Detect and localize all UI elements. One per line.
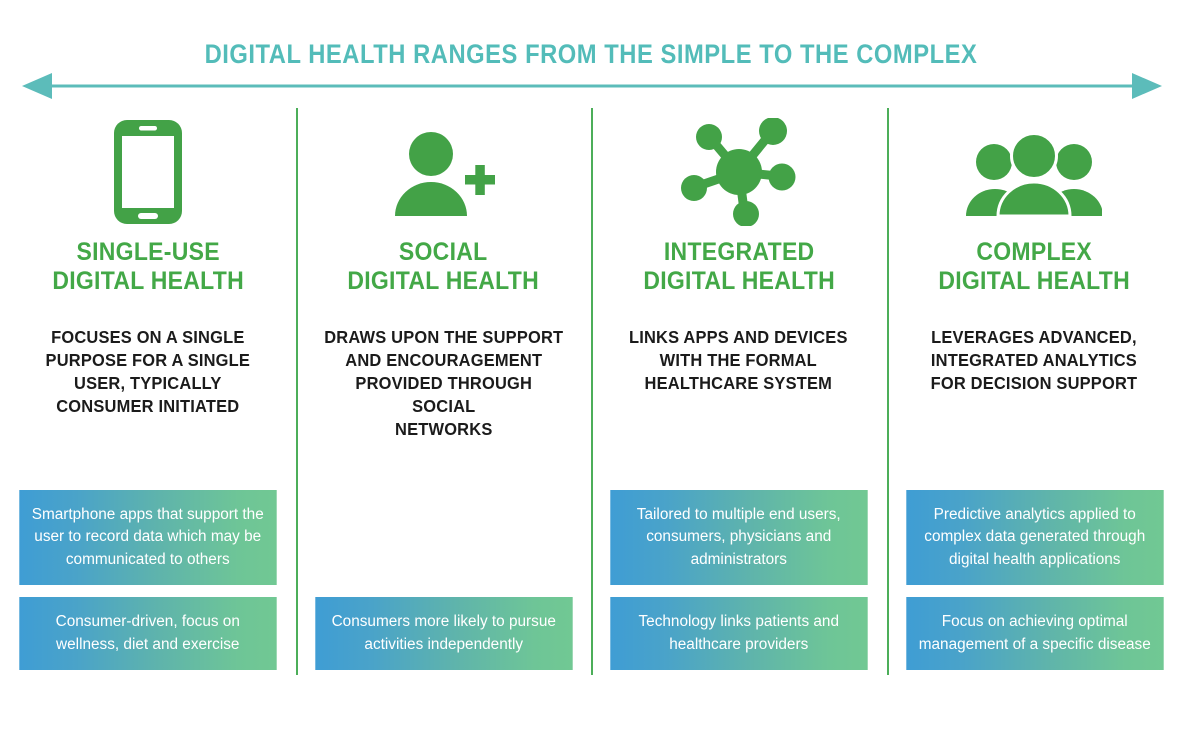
page-title: DIGITAL HEALTH RANGES FROM THE SIMPLE TO… <box>71 39 1111 70</box>
infographic-root: DIGITAL HEALTH RANGES FROM THE SIMPLE TO… <box>0 0 1182 746</box>
card-item: Predictive analytics applied to complex … <box>906 490 1163 585</box>
column-heading: INTEGRATED DIGITAL HEALTH <box>643 238 835 296</box>
column-description: DRAWS UPON THE SUPPORT AND ENCOURAGEMENT… <box>321 326 565 441</box>
column-single-use: SINGLE-USE DIGITAL HEALTH FOCUSES ON A S… <box>0 108 296 678</box>
column-description: LINKS APPS AND DEVICES WITH THE FORMAL H… <box>629 326 848 395</box>
columns-container: SINGLE-USE DIGITAL HEALTH FOCUSES ON A S… <box>0 108 1182 678</box>
column-heading: COMPLEX DIGITAL HEALTH <box>938 238 1130 296</box>
cards-list: Smartphone apps that support the user to… <box>18 490 278 678</box>
column-integrated: INTEGRATED DIGITAL HEALTH LINKS APPS AND… <box>591 108 887 678</box>
card-item: Smartphone apps that support the user to… <box>19 490 276 585</box>
card-item: Tailored to multiple end users, consumer… <box>610 490 867 585</box>
card-item: Technology links patients and healthcare… <box>610 597 867 670</box>
column-heading: SINGLE-USE DIGITAL HEALTH <box>52 238 244 296</box>
people-group-icon <box>966 108 1102 236</box>
card-item: Consumer-driven, focus on wellness, diet… <box>19 597 276 670</box>
double-headed-arrow-icon <box>22 70 1162 102</box>
smartphone-icon <box>112 108 184 236</box>
network-hub-icon <box>680 108 798 236</box>
add-person-icon <box>389 108 497 236</box>
column-social: SOCIAL DIGITAL HEALTH DRAWS UPON THE SUP… <box>296 108 592 678</box>
cards-list: Consumers more likely to pursue activiti… <box>314 597 574 678</box>
column-description: FOCUSES ON A SINGLE PURPOSE FOR A SINGLE… <box>45 326 250 418</box>
cards-list: Tailored to multiple end users, consumer… <box>609 490 869 678</box>
column-description: LEVERAGES ADVANCED, INTEGRATED ANALYTICS… <box>931 326 1138 395</box>
card-item: Focus on achieving optimal management of… <box>906 597 1163 670</box>
card-item: Consumers more likely to pursue activiti… <box>315 597 572 670</box>
column-heading: SOCIAL DIGITAL HEALTH <box>347 238 539 296</box>
cards-list: Predictive analytics applied to complex … <box>905 490 1165 678</box>
column-complex: COMPLEX DIGITAL HEALTH LEVERAGES ADVANCE… <box>887 108 1182 678</box>
